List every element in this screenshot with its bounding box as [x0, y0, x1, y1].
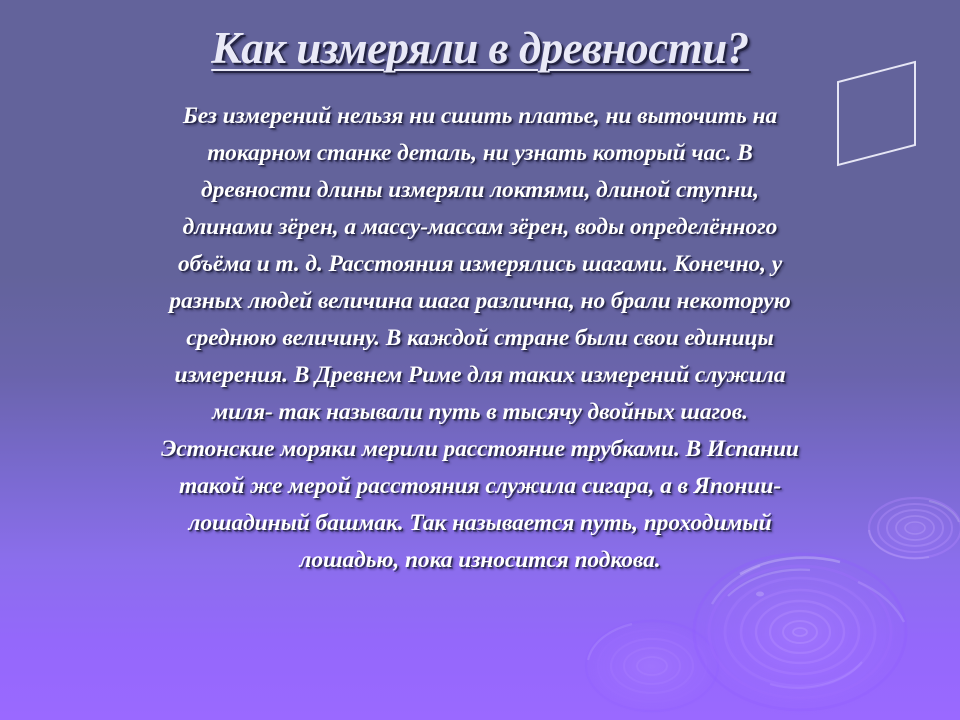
water-ripple-small-icon: [865, 494, 960, 562]
body-line: Без измерений нельзя ни сшить платье, ни…: [96, 98, 864, 135]
body-line: объёма и т. д. Расстояния измерялись шаг…: [96, 246, 864, 283]
body-line: Эстонские моряки мерили расстояние трубк…: [96, 431, 864, 468]
water-ripple-medium-icon: [582, 618, 722, 714]
body-line: древности длины измеряли локтями, длиной…: [96, 172, 864, 209]
body-line: измерения. В Древнем Риме для таких изме…: [96, 357, 864, 394]
body-line: такой же мерой расстояния служила сигара…: [96, 468, 864, 505]
slide-body-text: Без измерений нельзя ни сшить платье, ни…: [96, 98, 864, 579]
body-line: среднюю величину. В каждой стране были с…: [96, 320, 864, 357]
body-line: разных людей величина шага различна, но …: [96, 283, 864, 320]
body-line: миля- так называли путь в тысячу двойных…: [96, 394, 864, 431]
body-line: длинами зёрен, а массу-массам зёрен, вод…: [96, 209, 864, 246]
body-line: лошадью, пока износится подкова.: [96, 542, 864, 579]
page-title: Как измеряли в древности?: [211, 22, 749, 74]
slide-title-container: Как измеряли в древности?: [0, 22, 960, 74]
body-line: токарном станке деталь, ни узнать которы…: [96, 135, 864, 172]
presentation-slide: Как измеряли в древности? Без измерений …: [0, 0, 960, 720]
body-line: лошадиный башмак. Так называется путь, п…: [96, 505, 864, 542]
